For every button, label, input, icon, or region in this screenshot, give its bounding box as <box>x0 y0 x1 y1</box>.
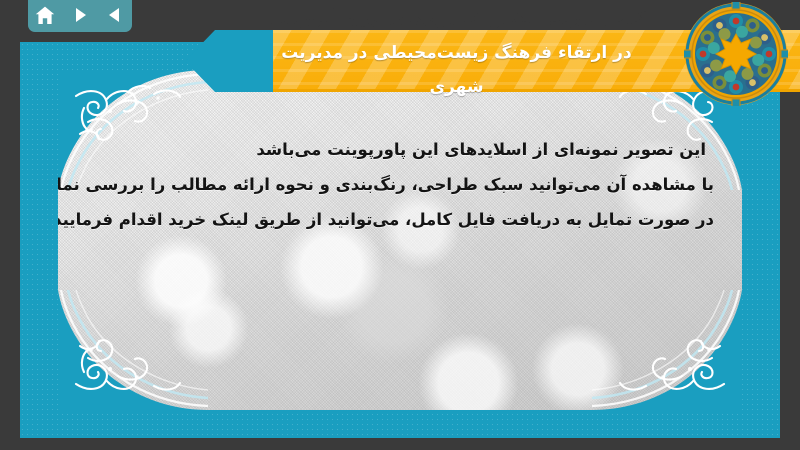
slide-background: این تصویر نمونه‌ای از اسلایدهای این پاور… <box>58 70 742 410</box>
corner-ornament-bottom-left <box>58 290 208 410</box>
forward-button[interactable] <box>67 3 93 27</box>
slide-title: کامل بررسی نقش فناوری‌های نوین آموزشی در… <box>225 2 688 104</box>
body-line-3: در صورت تمایل به دریافت فایل کامل، می‌تو… <box>58 202 714 237</box>
title-line-2: در ارتقاء فرهنگ زیست‌محیطی در مدیریت <box>225 36 688 70</box>
back-arrow-icon <box>106 6 124 24</box>
forward-arrow-icon <box>71 6 89 24</box>
slide-body-text: این تصویر نمونه‌ای از اسلایدهای این پاور… <box>58 132 714 237</box>
body-line-1: این تصویر نمونه‌ای از اسلایدهای این پاور… <box>58 132 714 167</box>
title-line-3: شهری <box>225 70 688 104</box>
home-button[interactable] <box>32 3 58 27</box>
back-button[interactable] <box>102 3 128 27</box>
navigation-bar <box>28 0 132 32</box>
body-line-2: با مشاهده آن می‌توانید سبک طراحی، رنگ‌بن… <box>58 167 714 202</box>
corner-ornament-bottom-right <box>592 290 742 410</box>
slide-viewer: این تصویر نمونه‌ای از اسلایدهای این پاور… <box>0 0 800 450</box>
home-icon <box>35 6 55 25</box>
title-line-1: کامل بررسی نقش فناوری‌های نوین آموزشی <box>225 2 688 36</box>
persian-medallion-ornament <box>684 2 788 106</box>
